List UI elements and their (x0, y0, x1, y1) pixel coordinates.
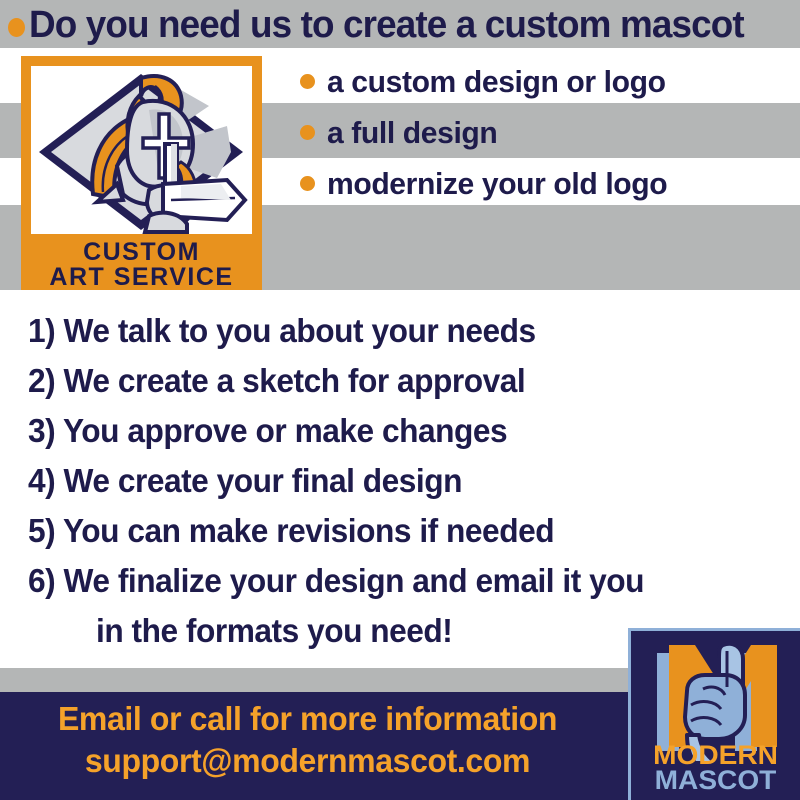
contact-email[interactable]: support@modernmascot.com (9, 740, 606, 782)
bullet-dot-icon (8, 18, 25, 37)
list-item: 3) You approve or make changes (28, 406, 788, 456)
bullet-dot-icon (300, 176, 315, 191)
list-item: a custom design or logo (300, 56, 795, 107)
poster-canvas: Do you need us to create a custom mascot (0, 0, 800, 800)
offer-label: modernize your old logo (327, 166, 667, 202)
list-item: 6) We finalize your design and email it … (28, 556, 788, 606)
offers-list: a custom design or logo a full design mo… (300, 56, 795, 209)
step-text: in the formats you need! (96, 612, 452, 650)
offer-label: a full design (327, 115, 497, 151)
contact-line-1: Email or call for more information (9, 698, 606, 740)
headline: Do you need us to create a custom mascot (8, 4, 798, 47)
list-item: 2) We create a sketch for approval (28, 356, 788, 406)
brand-wordmark: MODERN MASCOT (631, 743, 800, 793)
custom-art-service-card: CUSTOM ART SERVICE (21, 56, 262, 290)
step-text: 1) We talk to you about your needs (28, 312, 536, 350)
bullet-dot-icon (300, 74, 315, 89)
knight-mascot-icon (31, 66, 252, 234)
step-text: 2) We create a sketch for approval (28, 362, 525, 400)
headline-text: Do you need us to create a custom mascot (29, 4, 744, 47)
list-item: modernize your old logo (300, 158, 795, 209)
bullet-dot-icon (300, 125, 315, 140)
step-text: 5) You can make revisions if needed (28, 512, 554, 550)
list-item: 4) We create your final design (28, 456, 788, 506)
art-card-caption-line2: ART SERVICE (31, 265, 252, 290)
step-text: 6) We finalize your design and email it … (28, 562, 644, 600)
process-steps-list: 1) We talk to you about your needs 2) We… (28, 306, 788, 656)
list-item: 1) We talk to you about your needs (28, 306, 788, 356)
step-text: 4) We create your final design (28, 462, 462, 500)
list-item: 5) You can make revisions if needed (28, 506, 788, 556)
brand-word-mascot: MASCOT (628, 768, 800, 793)
step-text: 3) You approve or make changes (28, 412, 507, 450)
art-card-caption: CUSTOM ART SERVICE (31, 240, 252, 289)
offer-label: a custom design or logo (327, 64, 666, 100)
modern-mascot-logo: MODERN MASCOT (628, 628, 800, 800)
list-item: a full design (300, 107, 795, 158)
art-card-caption-line1: CUSTOM (31, 240, 252, 265)
contact-info: Email or call for more information suppo… (0, 698, 615, 781)
